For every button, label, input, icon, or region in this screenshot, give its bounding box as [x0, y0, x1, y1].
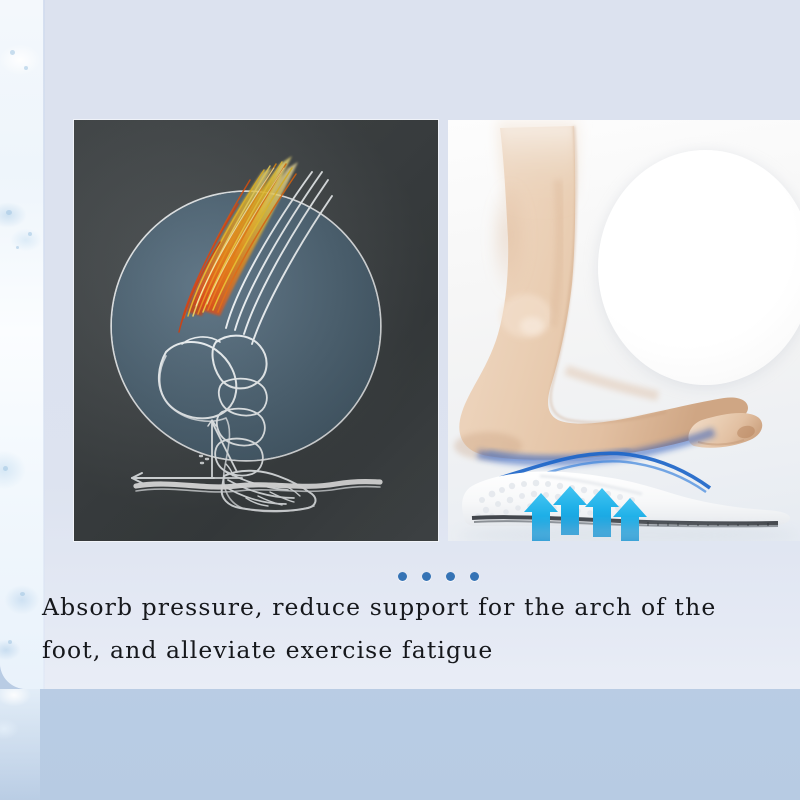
frost-speck [10, 50, 15, 55]
frost-texture-tail [0, 689, 40, 800]
content-card: Absorb pressure, reduce support for the … [0, 0, 800, 689]
anatomy-panel [74, 120, 438, 541]
caption-line-1: Absorb pressure, reduce support for the … [42, 586, 800, 629]
anatomy-diagram [74, 120, 438, 541]
caption-line-2: foot, and alleviate exercise fatigue [42, 629, 800, 672]
product-feature-image: Absorb pressure, reduce support for the … [0, 0, 800, 800]
foot-shape [454, 120, 762, 460]
dot [470, 572, 479, 581]
dot [398, 572, 407, 581]
frost-texture-strip [0, 0, 44, 689]
frost-speck [20, 592, 25, 596]
frost-speck [28, 232, 32, 236]
dot [422, 572, 431, 581]
foot-and-insole-illustration [448, 120, 800, 541]
insole-photo-panel [448, 120, 800, 541]
frost-speck [6, 210, 12, 215]
frost-speck [16, 246, 19, 249]
caption-text: Absorb pressure, reduce support for the … [42, 586, 800, 672]
frost-speck [3, 466, 8, 471]
decorative-dots [398, 572, 479, 581]
frost-speck [8, 640, 12, 644]
anatomy-circle [112, 192, 380, 460]
frost-speck [24, 66, 28, 70]
dot [446, 572, 455, 581]
